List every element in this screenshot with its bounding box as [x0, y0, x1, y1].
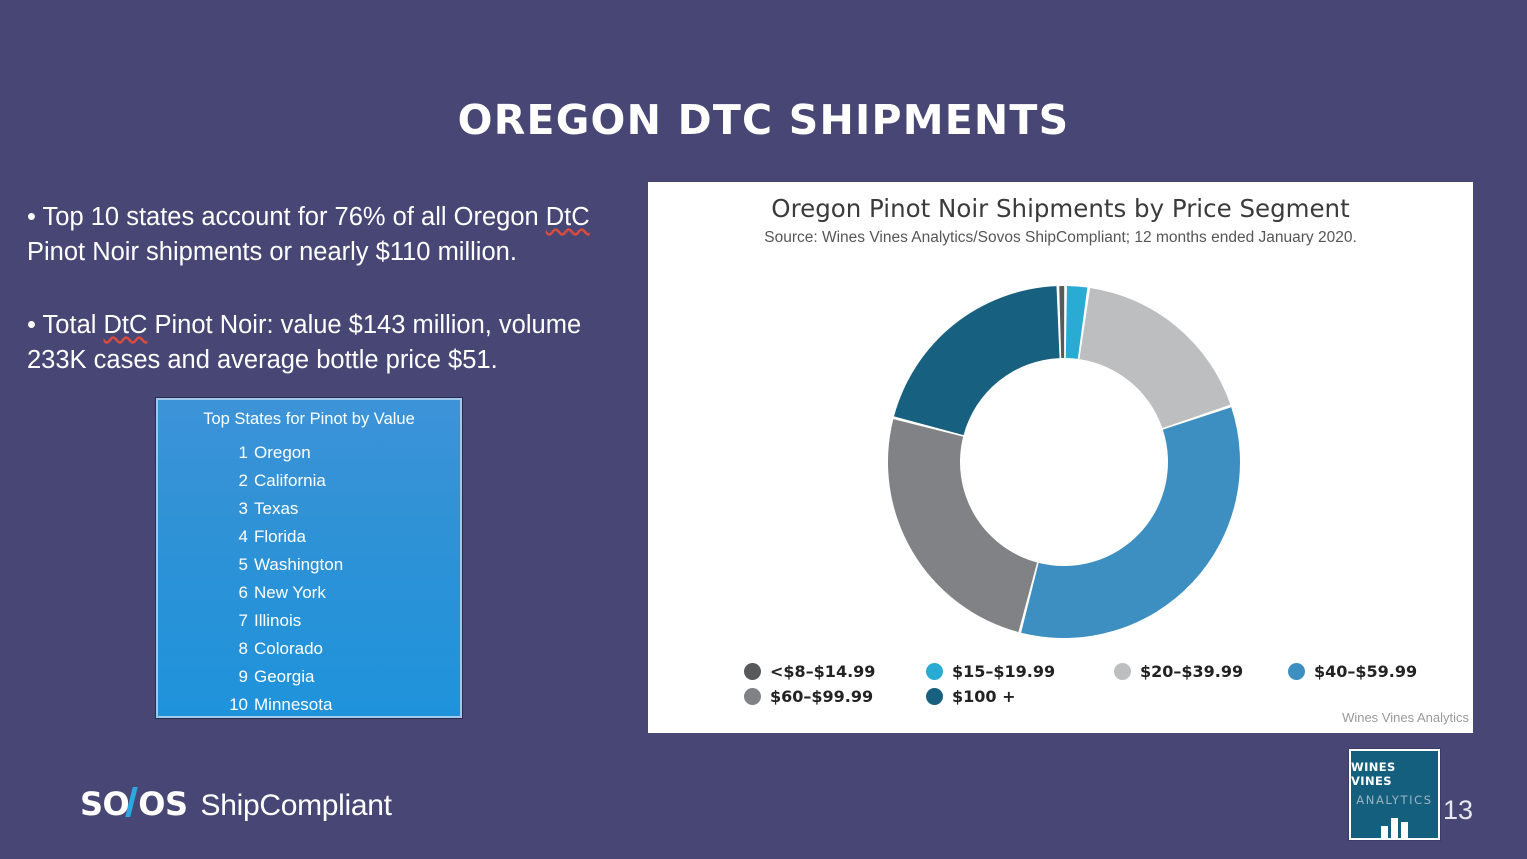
wines-vines-logo-line1: WINES VINES	[1351, 760, 1438, 788]
sovos-slash-icon	[128, 785, 139, 815]
row-rank: 1	[224, 439, 248, 467]
donut-slice	[1059, 286, 1064, 358]
legend-label: $40–$59.99	[1314, 662, 1417, 681]
donut-chart-svg	[880, 278, 1248, 646]
bullet-1-text-post: Pinot Noir shipments or nearly $110 mill…	[27, 238, 517, 266]
chart-watermark: Wines Vines Analytics	[1342, 710, 1469, 725]
legend-item: $100 +	[926, 687, 1114, 706]
row-rank: 7	[224, 607, 248, 635]
row-state-name: Georgia	[254, 663, 314, 691]
legend-item: <$8–$14.99	[744, 662, 926, 681]
chart-legend: <$8–$14.99$15–$19.99$20–$39.99$40–$59.99…	[744, 662, 1444, 712]
row-state-name: Illinois	[254, 607, 301, 635]
legend-color-swatch-icon	[1288, 663, 1305, 680]
bullet-list: • Top 10 states account for 76% of all O…	[27, 200, 617, 416]
donut-chart	[880, 278, 1248, 646]
row-state-name: Florida	[254, 523, 306, 551]
row-state-name: California	[254, 467, 326, 495]
legend-color-swatch-icon	[744, 688, 761, 705]
legend-item: $20–$39.99	[1114, 662, 1288, 681]
table-row: 3Texas	[158, 495, 460, 523]
row-rank: 9	[224, 663, 248, 691]
row-rank: 4	[224, 523, 248, 551]
legend-item: $40–$59.99	[1288, 662, 1444, 681]
sovos-shipcompliant-logo: SOOS ShipCompliant	[80, 785, 392, 823]
bullet-item-2: • Total DtC Pinot Noir: value $143 milli…	[27, 308, 617, 378]
wines-vines-analytics-logo: WINES VINES ANALYTICS	[1349, 749, 1440, 840]
row-state-name: Texas	[254, 495, 298, 523]
table-row: 10Minnesota	[158, 691, 460, 719]
bullet-2-text-pre: • Total	[27, 311, 104, 339]
legend-color-swatch-icon	[1114, 663, 1131, 680]
donut-slice	[1021, 407, 1240, 638]
legend-label: <$8–$14.99	[770, 662, 875, 681]
row-rank: 2	[224, 467, 248, 495]
legend-label: $60–$99.99	[770, 687, 873, 706]
row-state-name: Colorado	[254, 635, 323, 663]
bullet-1-text-pre: • Top 10 states account for 76% of all O…	[27, 203, 546, 231]
sovos-mark-left: SO	[80, 785, 129, 823]
bullet-1-misspelled-word: DtC	[546, 203, 590, 231]
page-number: 13	[1443, 795, 1473, 826]
row-state-name: Washington	[254, 551, 343, 579]
legend-color-swatch-icon	[744, 663, 761, 680]
page-title: OREGON DTC SHIPMENTS	[0, 96, 1527, 144]
table-row: 9Georgia	[158, 663, 460, 691]
row-rank: 6	[224, 579, 248, 607]
bullet-2-misspelled-word: DtC	[104, 311, 148, 339]
row-rank: 8	[224, 635, 248, 663]
chart-title: Oregon Pinot Noir Shipments by Price Seg…	[648, 194, 1473, 223]
donut-slice	[1079, 288, 1230, 428]
bullet-item-1: • Top 10 states account for 76% of all O…	[27, 200, 617, 270]
sovos-mark-right: OS	[138, 785, 187, 823]
bar-chart-icon	[1381, 818, 1408, 840]
table-header: Top States for Pinot by Value	[158, 400, 460, 435]
wines-vines-logo-line2: ANALYTICS	[1356, 793, 1432, 807]
row-rank: 3	[224, 495, 248, 523]
row-state-name: Oregon	[254, 439, 311, 467]
table-row: 8Colorado	[158, 635, 460, 663]
legend-item: $60–$99.99	[744, 687, 926, 706]
shipcompliant-wordmark: ShipCompliant	[201, 789, 392, 823]
legend-label: $15–$19.99	[952, 662, 1055, 681]
table-row: 5Washington	[158, 551, 460, 579]
chart-source-note: Source: Wines Vines Analytics/Sovos Ship…	[648, 229, 1473, 247]
row-state-name: Minnesota	[254, 691, 332, 719]
table-body: 1Oregon2California3Texas4Florida5Washing…	[158, 435, 460, 719]
row-rank: 10	[212, 691, 248, 719]
row-rank: 5	[224, 551, 248, 579]
table-row: 7Illinois	[158, 607, 460, 635]
table-row: 4Florida	[158, 523, 460, 551]
sovos-wordmark: SOOS	[80, 785, 188, 823]
donut-slice	[894, 286, 1060, 435]
table-row: 6New York	[158, 579, 460, 607]
top-states-table: Top States for Pinot by Value 1Oregon2Ca…	[156, 398, 462, 718]
legend-label: $100 +	[952, 687, 1016, 706]
legend-color-swatch-icon	[926, 688, 943, 705]
row-state-name: New York	[254, 579, 326, 607]
table-row: 2California	[158, 467, 460, 495]
legend-label: $20–$39.99	[1140, 662, 1243, 681]
legend-color-swatch-icon	[926, 663, 943, 680]
table-row: 1Oregon	[158, 439, 460, 467]
donut-slice	[888, 419, 1037, 632]
legend-item: $15–$19.99	[926, 662, 1114, 681]
chart-card: Oregon Pinot Noir Shipments by Price Seg…	[648, 182, 1473, 733]
